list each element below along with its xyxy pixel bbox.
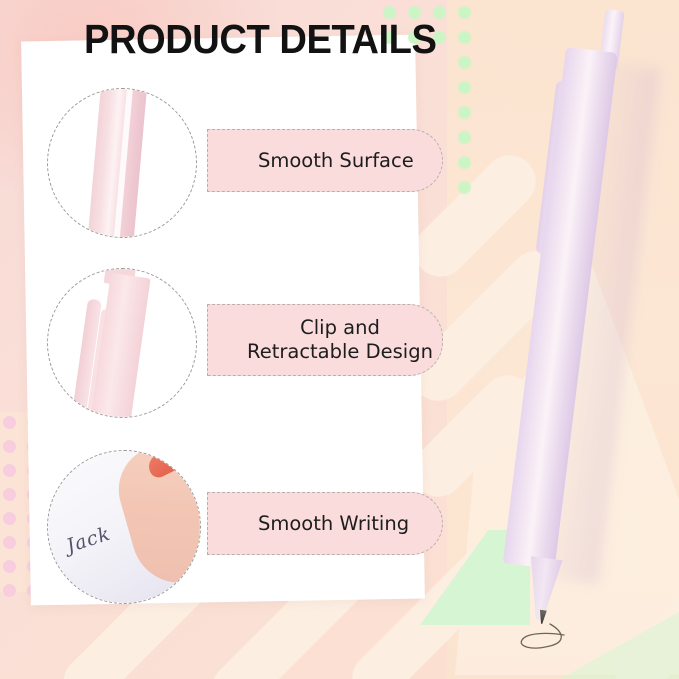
feature-smooth-surface: Smooth Surface	[47, 88, 407, 238]
pen-barrel-closeup	[48, 89, 196, 237]
decor-dot	[3, 512, 16, 525]
decor-dot	[3, 536, 16, 549]
page-title: PRODUCT DETAILS	[84, 16, 436, 63]
decor-dot	[458, 31, 471, 44]
decor-dot	[3, 584, 16, 597]
pen-barrel-icon	[86, 89, 148, 237]
feature-image-circle	[47, 88, 197, 238]
feature-smooth-writing: Smooth Writing Jack	[47, 450, 407, 602]
decor-dot	[458, 181, 471, 194]
feature-image-circle	[47, 268, 197, 418]
decor-dot	[3, 560, 16, 573]
pen-clip-closeup	[48, 269, 196, 417]
decor-dot	[3, 488, 16, 501]
decor-dot	[3, 416, 16, 429]
decor-dot	[458, 106, 471, 119]
decor-dot	[458, 81, 471, 94]
feature-image-circle: Jack	[47, 450, 201, 604]
feature-label-pill: Clip and Retractable Design	[207, 304, 443, 376]
decor-dot	[458, 56, 471, 69]
infographic-canvas: PRODUCT DETAILS Smooth Surface Clip and …	[0, 0, 679, 679]
decor-dot	[458, 131, 471, 144]
feature-label-pill: Smooth Writing	[207, 492, 443, 555]
decor-dot	[458, 156, 471, 169]
product-pen-image	[520, 2, 660, 662]
decor-dot	[3, 440, 16, 453]
handwriting-sample-text: Jack	[64, 523, 114, 558]
feature-label-pill: Smooth Surface	[207, 129, 443, 192]
writing-hand-closeup: Jack	[48, 451, 200, 603]
feature-label-text: Clip and Retractable Design	[238, 316, 442, 364]
decor-dot	[458, 6, 471, 19]
feature-label-text: Smooth Writing	[258, 512, 442, 536]
feature-clip-retractable: Clip and Retractable Design	[47, 268, 407, 418]
ink-scribble-icon	[520, 602, 660, 672]
feature-label-text: Smooth Surface	[258, 149, 442, 173]
decor-dot	[3, 464, 16, 477]
